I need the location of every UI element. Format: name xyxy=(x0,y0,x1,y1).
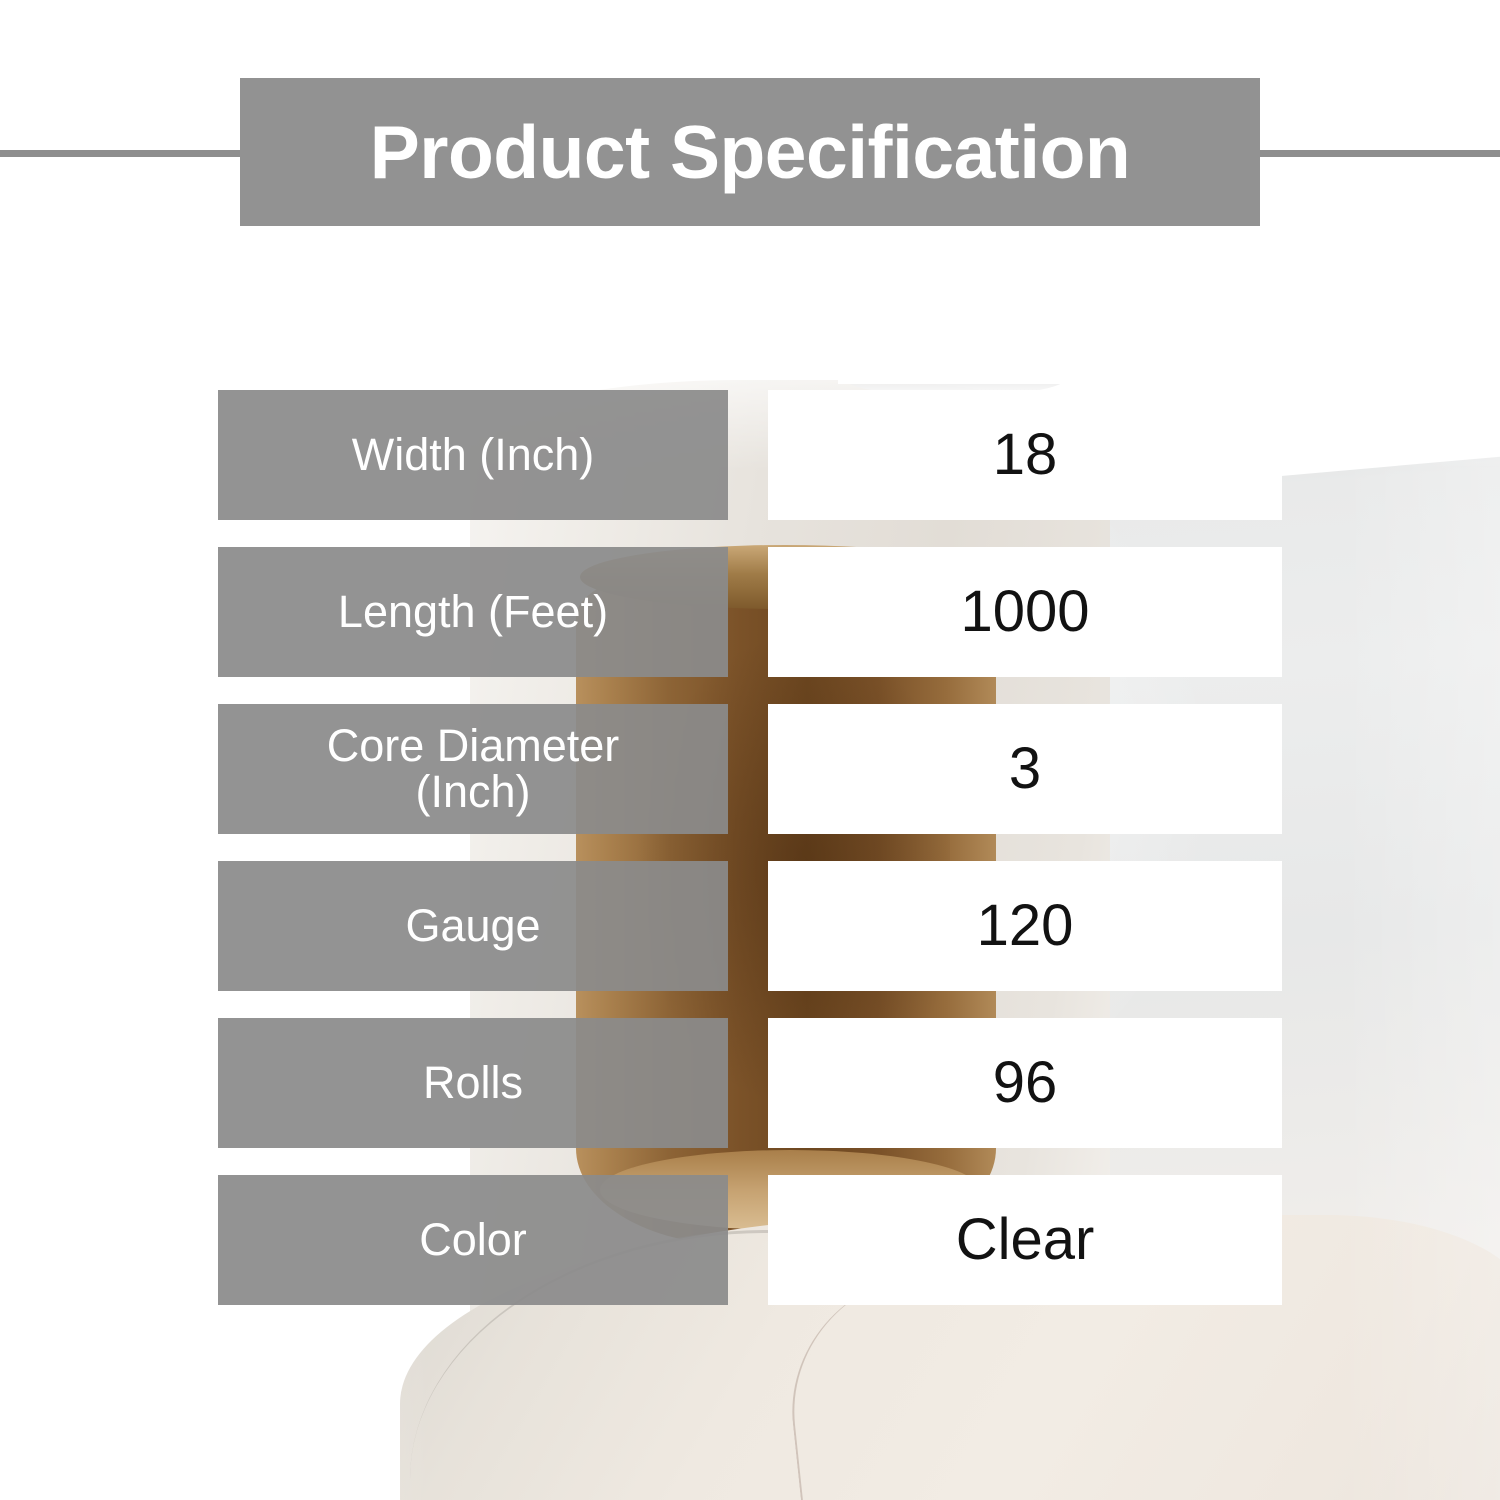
spec-label-text: Width (Inch) xyxy=(352,432,595,478)
table-row: Rolls 96 xyxy=(218,1018,1282,1148)
specification-table: Width (Inch) 18 Length (Feet) 1000 Core … xyxy=(218,390,1282,1305)
spec-label-cell: Core Diameter (Inch) xyxy=(218,704,728,834)
spec-value-text: 96 xyxy=(993,1054,1058,1112)
spec-label-text: Color xyxy=(419,1217,527,1263)
spec-value-cell: 18 xyxy=(768,390,1282,520)
table-row: Gauge 120 xyxy=(218,861,1282,991)
spec-value-text: 1000 xyxy=(960,583,1089,641)
title-banner: Product Specification xyxy=(240,78,1260,226)
spec-label-text: Rolls xyxy=(423,1060,523,1106)
spec-value-cell: 120 xyxy=(768,861,1282,991)
spec-label-text: Length (Feet) xyxy=(338,589,608,635)
table-row: Width (Inch) 18 xyxy=(218,390,1282,520)
table-row: Length (Feet) 1000 xyxy=(218,547,1282,677)
spec-value-text: 3 xyxy=(1009,740,1041,798)
film-roll-top-rim-mask xyxy=(838,362,1074,384)
header-rule-right xyxy=(1258,150,1500,157)
spec-value-cell: 96 xyxy=(768,1018,1282,1148)
spec-value-text: 18 xyxy=(993,426,1058,484)
spec-label-cell: Width (Inch) xyxy=(218,390,728,520)
spec-label-cell: Gauge xyxy=(218,861,728,991)
spec-label-text: Core Diameter (Inch) xyxy=(327,723,620,815)
spec-value-cell: Clear xyxy=(768,1175,1282,1305)
spec-label-cell: Color xyxy=(218,1175,728,1305)
spec-label-cell: Rolls xyxy=(218,1018,728,1148)
spec-value-text: Clear xyxy=(956,1211,1095,1269)
header-rule-left xyxy=(0,150,242,157)
spec-label-text: Gauge xyxy=(405,903,540,949)
spec-value-cell: 1000 xyxy=(768,547,1282,677)
table-row: Core Diameter (Inch) 3 xyxy=(218,704,1282,834)
spec-value-cell: 3 xyxy=(768,704,1282,834)
page-title: Product Specification xyxy=(370,115,1130,190)
spec-value-text: 120 xyxy=(977,897,1074,955)
product-specification-graphic: Product Specification Width (Inch) 18 Le… xyxy=(0,0,1500,1500)
spec-label-cell: Length (Feet) xyxy=(218,547,728,677)
table-row: Color Clear xyxy=(218,1175,1282,1305)
